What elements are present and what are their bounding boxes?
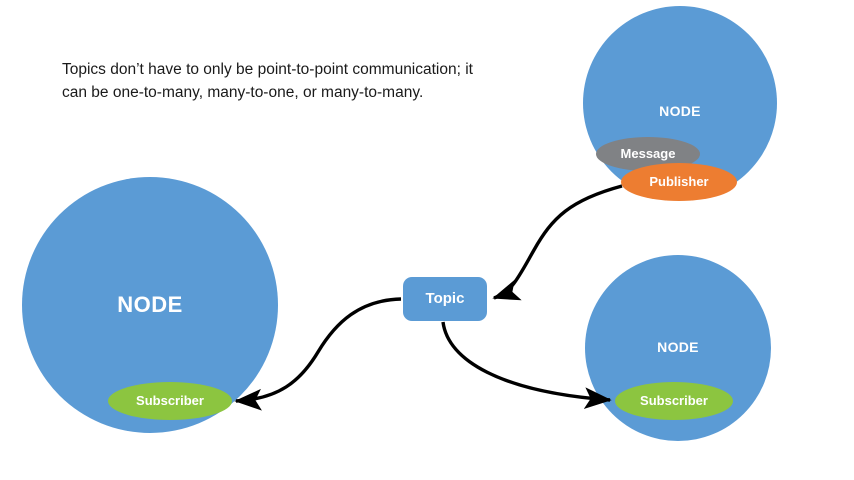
diagram-graphics	[0, 0, 854, 480]
subscriber-ellipse-left[interactable]	[108, 382, 232, 420]
diagram-canvas: Topics don’t have to only be point-to-po…	[0, 0, 854, 480]
topic-box[interactable]	[403, 277, 487, 321]
subscriber-ellipse-bottom-right[interactable]	[615, 382, 733, 420]
publisher-ellipse[interactable]	[621, 163, 737, 201]
arrow-topic-to-subscriber-bottom-right	[443, 322, 610, 400]
arrow-publisher-to-topic	[494, 186, 622, 298]
